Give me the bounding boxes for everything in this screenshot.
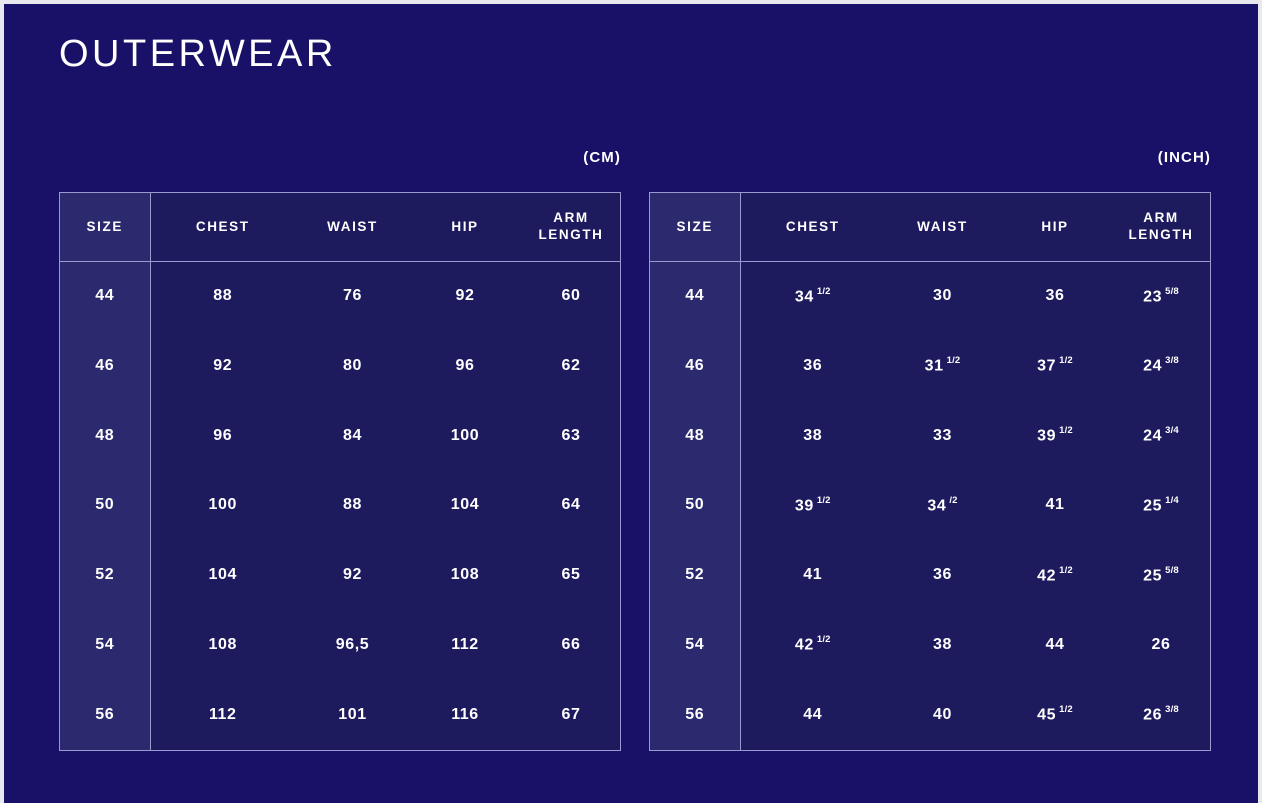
cell-chest: 421/2 <box>740 610 885 680</box>
fraction: 1/2 <box>817 495 831 506</box>
table-header-row: SIZE CHEST WAIST HIP ARM LENGTH <box>650 193 1211 261</box>
unit-label-cm: (CM) <box>59 149 621 166</box>
cell-arm-length: 255/8 <box>1110 540 1211 610</box>
fraction: 3/8 <box>1165 704 1179 715</box>
table-row: 483833391/2243/4 <box>650 401 1211 471</box>
cell-waist: 80 <box>295 331 410 401</box>
cell-hip: 371/2 <box>1000 331 1110 401</box>
header-hip: HIP <box>410 193 520 261</box>
cell-chest: 112 <box>150 680 295 750</box>
fraction: /2 <box>949 495 957 506</box>
cell-size: 56 <box>60 680 150 750</box>
fraction: 1/2 <box>1059 425 1073 436</box>
table-row: 4488769260 <box>60 261 621 331</box>
cell-size: 44 <box>60 261 150 331</box>
cell-waist: 84 <box>295 401 410 471</box>
cell-chest: 88 <box>150 261 295 331</box>
cell-hip: 451/2 <box>1000 680 1110 750</box>
cell-arm-length: 243/4 <box>1110 401 1211 471</box>
header-hip: HIP <box>1000 193 1110 261</box>
cell-chest: 391/2 <box>740 471 885 541</box>
cell-waist: 101 <box>295 680 410 750</box>
cell-hip: 112 <box>410 610 520 680</box>
size-chart-page: OUTERWEAR (CM) (INCH) SIZE CHEST WAIST H… <box>4 4 1258 803</box>
cell-hip: 100 <box>410 401 520 471</box>
fraction: 1/2 <box>947 355 961 366</box>
cell-arm-length: 243/8 <box>1110 331 1211 401</box>
cell-waist: 88 <box>295 471 410 541</box>
cell-hip: 421/2 <box>1000 540 1110 610</box>
header-arm-length: ARM LENGTH <box>520 193 621 261</box>
fraction: 1/2 <box>817 634 831 645</box>
cell-size: 50 <box>60 471 150 541</box>
cell-chest: 100 <box>150 471 295 541</box>
table-row: 48968410063 <box>60 401 621 471</box>
cell-arm-length: 235/8 <box>1110 261 1211 331</box>
fraction: 5/8 <box>1165 565 1179 576</box>
cell-arm-length: 60 <box>520 261 621 331</box>
cell-arm-length: 65 <box>520 540 621 610</box>
fraction: 3/8 <box>1165 355 1179 366</box>
cell-chest: 38 <box>740 401 885 471</box>
table-row: 54421/2384426 <box>650 610 1211 680</box>
cell-waist: 92 <box>295 540 410 610</box>
header-waist: WAIST <box>885 193 1000 261</box>
cell-arm-length: 66 <box>520 610 621 680</box>
cell-size: 54 <box>650 610 740 680</box>
cell-size: 44 <box>650 261 740 331</box>
cell-arm-length: 62 <box>520 331 621 401</box>
fraction: 1/2 <box>1059 565 1073 576</box>
cell-waist: 36 <box>885 540 1000 610</box>
cell-chest: 92 <box>150 331 295 401</box>
header-size: SIZE <box>60 193 150 261</box>
table-row: 564440451/2263/8 <box>650 680 1211 750</box>
table-row: 524136421/2255/8 <box>650 540 1211 610</box>
page-title: OUTERWEAR <box>59 31 337 77</box>
cell-chest: 36 <box>740 331 885 401</box>
header-arm-length: ARM LENGTH <box>1110 193 1211 261</box>
cell-arm-length: 67 <box>520 680 621 750</box>
size-table-cm: SIZE CHEST WAIST HIP ARM LENGTH 44887692… <box>59 192 621 751</box>
cell-arm-length: 64 <box>520 471 621 541</box>
cell-chest: 44 <box>740 680 885 750</box>
cell-waist: 76 <box>295 261 410 331</box>
unit-label-inch: (INCH) <box>649 149 1211 166</box>
cell-arm-length: 251/4 <box>1110 471 1211 541</box>
header-chest: CHEST <box>150 193 295 261</box>
header-arm-line1: ARM <box>520 209 621 226</box>
cell-size: 56 <box>650 680 740 750</box>
cell-size: 48 <box>60 401 150 471</box>
table-row: 521049210865 <box>60 540 621 610</box>
cell-chest: 341/2 <box>740 261 885 331</box>
cell-waist: 34/2 <box>885 471 1000 541</box>
header-arm-line2: LENGTH <box>520 226 621 243</box>
cell-size: 50 <box>650 471 740 541</box>
cell-hip: 92 <box>410 261 520 331</box>
cell-arm-length: 63 <box>520 401 621 471</box>
cell-size: 52 <box>60 540 150 610</box>
cell-hip: 44 <box>1000 610 1110 680</box>
header-size: SIZE <box>650 193 740 261</box>
header-arm-line2: LENGTH <box>1110 226 1211 243</box>
cell-hip: 104 <box>410 471 520 541</box>
cell-arm-length: 263/8 <box>1110 680 1211 750</box>
cell-hip: 116 <box>410 680 520 750</box>
table-row: 4692809662 <box>60 331 621 401</box>
cell-waist: 40 <box>885 680 1000 750</box>
cell-size: 54 <box>60 610 150 680</box>
fraction: 3/4 <box>1165 425 1179 436</box>
cell-size: 46 <box>60 331 150 401</box>
header-arm-line1: ARM <box>1110 209 1211 226</box>
table-row: 501008810464 <box>60 471 621 541</box>
fraction: 1/2 <box>817 286 831 297</box>
cell-chest: 41 <box>740 540 885 610</box>
cell-chest: 96 <box>150 401 295 471</box>
cell-hip: 391/2 <box>1000 401 1110 471</box>
table-row: 4636311/2371/2243/8 <box>650 331 1211 401</box>
cell-waist: 30 <box>885 261 1000 331</box>
cell-hip: 96 <box>410 331 520 401</box>
cell-arm-length: 26 <box>1110 610 1211 680</box>
header-chest: CHEST <box>740 193 885 261</box>
table-header-row: SIZE CHEST WAIST HIP ARM LENGTH <box>60 193 621 261</box>
cell-size: 52 <box>650 540 740 610</box>
fraction: 1/4 <box>1165 495 1179 506</box>
cell-hip: 36 <box>1000 261 1110 331</box>
cell-waist: 311/2 <box>885 331 1000 401</box>
cell-waist: 96,5 <box>295 610 410 680</box>
size-table-inch: SIZE CHEST WAIST HIP ARM LENGTH 44341/23… <box>649 192 1211 751</box>
cell-chest: 108 <box>150 610 295 680</box>
cell-chest: 104 <box>150 540 295 610</box>
cell-hip: 108 <box>410 540 520 610</box>
cell-waist: 38 <box>885 610 1000 680</box>
table-row: 44341/23036235/8 <box>650 261 1211 331</box>
fraction: 1/2 <box>1059 355 1073 366</box>
cell-size: 48 <box>650 401 740 471</box>
fraction: 5/8 <box>1165 286 1179 297</box>
cell-size: 46 <box>650 331 740 401</box>
table-row: 5410896,511266 <box>60 610 621 680</box>
fraction: 1/2 <box>1059 704 1073 715</box>
cell-waist: 33 <box>885 401 1000 471</box>
header-waist: WAIST <box>295 193 410 261</box>
table-row: 50391/234/241251/4 <box>650 471 1211 541</box>
table-row: 5611210111667 <box>60 680 621 750</box>
cell-hip: 41 <box>1000 471 1110 541</box>
